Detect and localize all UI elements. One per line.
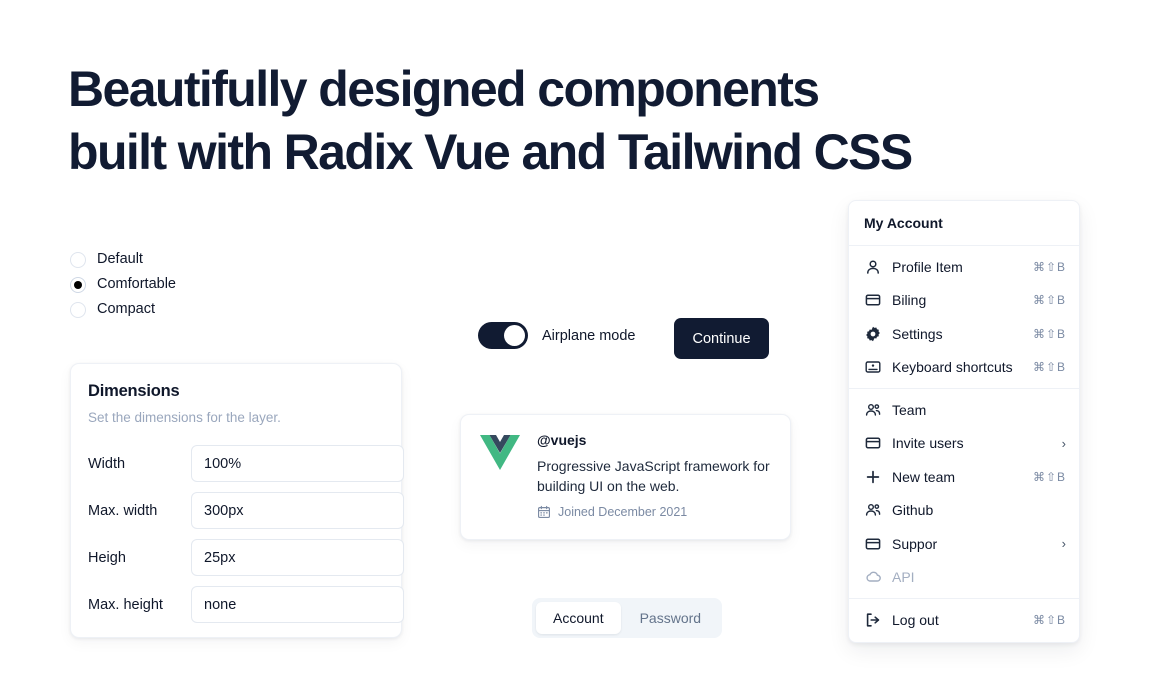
menu-item-billing[interactable]: Biling ⌘⇧B (849, 284, 1079, 318)
field-row-width: Width (88, 440, 384, 487)
menu-item-settings[interactable]: Settings ⌘⇧B (849, 317, 1079, 351)
logout-icon (864, 611, 881, 628)
radio-group-density: Default Comfortable Compact (70, 247, 310, 322)
dropdown-menu-my-account: My Account Profile Item ⌘⇧B Biling ⌘⇧B (848, 200, 1080, 643)
credit-card-icon (864, 535, 881, 552)
credit-card-icon (864, 292, 881, 309)
menu-item-new-team[interactable]: New team ⌘⇧B (849, 460, 1079, 494)
field-label-max-height: Max. height (88, 597, 191, 613)
chevron-right-icon: › (1062, 537, 1066, 550)
tab-account[interactable]: Account (536, 602, 621, 634)
users-icon (864, 502, 881, 519)
airplane-mode-row: Airplane mode (478, 322, 636, 349)
field-row-height: Heigh (88, 534, 384, 581)
menu-item-label: API (892, 569, 1066, 585)
keyboard-icon (864, 359, 881, 376)
menu-item-label: Suppor (892, 536, 1051, 552)
menu-item-github[interactable]: Github (849, 494, 1079, 528)
dimensions-fields: Width Max. width Heigh Max. height (88, 440, 384, 628)
menu-item-label: New team (892, 469, 1022, 485)
tabs-list: Account Password (532, 598, 722, 638)
menu-item-team[interactable]: Team (849, 393, 1079, 427)
gear-icon (864, 325, 881, 342)
dimensions-description: Set the dimensions for the layer. (88, 410, 384, 425)
menu-item-shortcut: ⌘⇧B (1033, 470, 1066, 484)
hover-card-description: Progressive JavaScript framework for bui… (537, 456, 772, 496)
menu-item-shortcut: ⌘⇧B (1033, 360, 1066, 374)
continue-button[interactable]: Continue (674, 318, 769, 359)
width-input[interactable] (191, 445, 404, 482)
hover-card-joined: Joined December 2021 (537, 505, 772, 519)
menu-item-label: Settings (892, 326, 1022, 342)
user-icon (864, 258, 881, 275)
menu-separator-3 (849, 598, 1079, 599)
page-title: Beautifully designed components built wi… (68, 58, 1028, 184)
menu-label: My Account (849, 206, 1079, 241)
radio-label-compact: Compact (97, 302, 155, 317)
chevron-right-icon: › (1062, 437, 1066, 450)
menu-item-shortcut: ⌘⇧B (1033, 260, 1066, 274)
menu-item-label: Github (892, 502, 1066, 518)
hover-card-vuejs: @vuejs Progressive JavaScript framework … (460, 414, 791, 540)
menu-item-label: Log out (892, 612, 1022, 628)
field-row-max-height: Max. height (88, 581, 384, 628)
menu-item-label: Keyboard shortcuts (892, 359, 1022, 375)
field-label-max-width: Max. width (88, 503, 191, 519)
menu-item-api: API (849, 561, 1079, 595)
menu-item-shortcut: ⌘⇧B (1033, 293, 1066, 307)
radio-indicator-comfortable[interactable] (70, 277, 86, 293)
dimensions-title: Dimensions (88, 382, 384, 401)
menu-separator-1 (849, 245, 1079, 246)
field-label-width: Width (88, 456, 191, 472)
dimensions-card: Dimensions Set the dimensions for the la… (70, 363, 402, 638)
height-input[interactable] (191, 539, 404, 576)
menu-item-keyboard-shortcuts[interactable]: Keyboard shortcuts ⌘⇧B (849, 351, 1079, 385)
radio-label-default: Default (97, 252, 143, 267)
field-row-max-width: Max. width (88, 487, 384, 534)
hover-card-handle: @vuejs (537, 432, 772, 448)
radio-option-comfortable[interactable]: Comfortable (70, 272, 310, 297)
switch-knob (504, 325, 525, 346)
radio-option-default[interactable]: Default (70, 247, 310, 272)
menu-item-label: Invite users (892, 435, 1051, 451)
cloud-icon (864, 569, 881, 586)
radio-label-comfortable: Comfortable (97, 277, 176, 292)
tab-password[interactable]: Password (623, 602, 718, 634)
max-height-input[interactable] (191, 586, 404, 623)
radio-indicator-default[interactable] (70, 252, 86, 268)
showcase-page: Beautifully designed components built wi… (0, 0, 1152, 700)
credit-card-icon (864, 435, 881, 452)
calendar-icon (537, 505, 551, 519)
airplane-mode-switch[interactable] (478, 322, 528, 349)
menu-separator-2 (849, 388, 1079, 389)
page-title-line-1: Beautifully designed components (68, 58, 1028, 121)
vue-logo-icon (479, 434, 521, 472)
users-icon (864, 401, 881, 418)
page-title-line-2: built with Radix Vue and Tailwind CSS (68, 121, 1028, 184)
max-width-input[interactable] (191, 492, 404, 529)
radio-option-compact[interactable]: Compact (70, 297, 310, 322)
menu-item-label: Biling (892, 292, 1022, 308)
hover-card-joined-label: Joined December 2021 (558, 505, 687, 519)
menu-item-support[interactable]: Suppor › (849, 527, 1079, 561)
plus-icon (864, 468, 881, 485)
airplane-mode-label: Airplane mode (542, 328, 636, 344)
menu-item-shortcut: ⌘⇧B (1033, 613, 1066, 627)
field-label-height: Heigh (88, 550, 191, 566)
radio-indicator-compact[interactable] (70, 302, 86, 318)
menu-item-shortcut: ⌘⇧B (1033, 327, 1066, 341)
hover-card-body: @vuejs Progressive JavaScript framework … (537, 432, 772, 522)
menu-item-label: Team (892, 402, 1066, 418)
menu-item-log-out[interactable]: Log out ⌘⇧B (849, 603, 1079, 637)
menu-item-label: Profile Item (892, 259, 1022, 275)
menu-item-profile[interactable]: Profile Item ⌘⇧B (849, 250, 1079, 284)
menu-item-invite-users[interactable]: Invite users › (849, 427, 1079, 461)
